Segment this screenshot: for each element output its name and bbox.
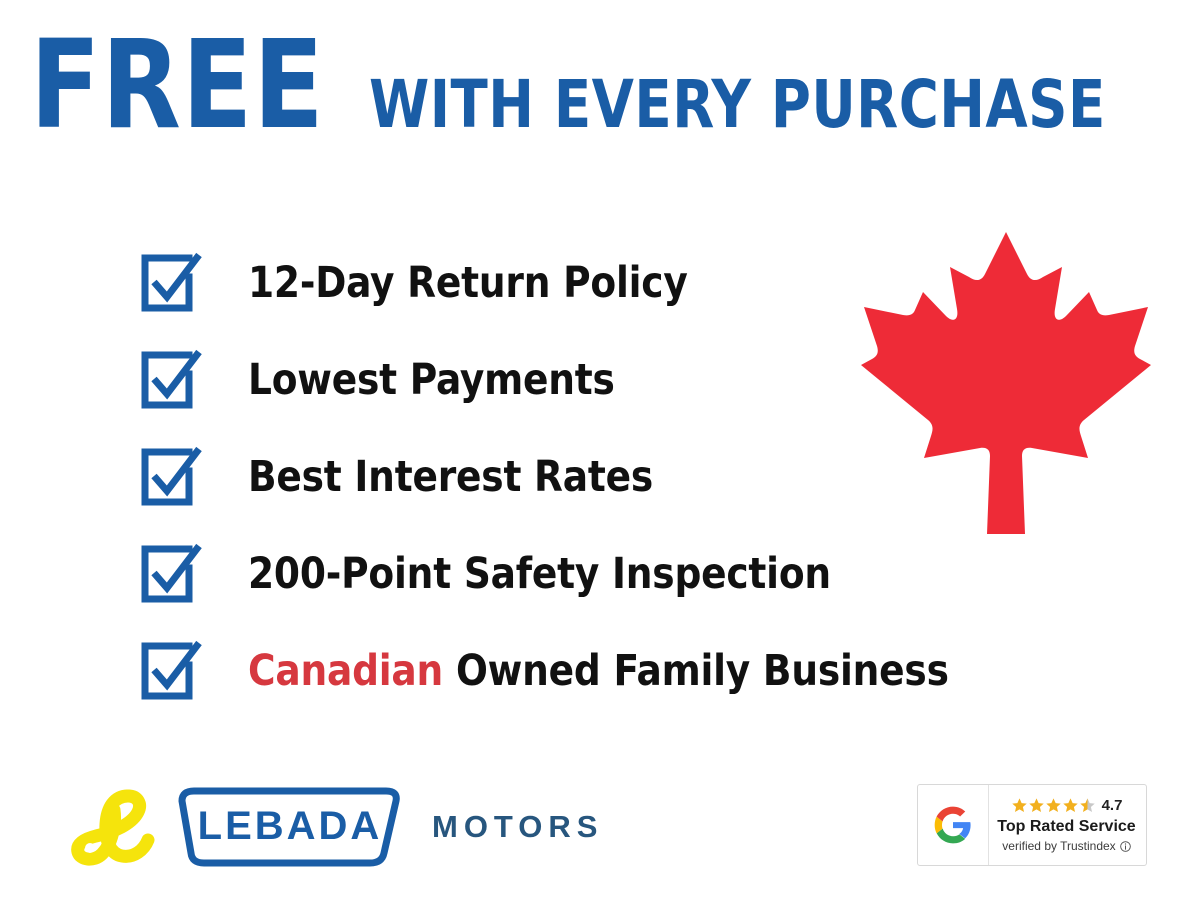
- benefit-label: 12-Day Return Policy: [248, 262, 688, 305]
- lebada-wordmark: LEBADA: [170, 787, 410, 867]
- headline-primary: FREE: [30, 24, 325, 146]
- star-icon: [1062, 797, 1079, 814]
- checked-checkbox-icon: [136, 344, 208, 416]
- google-review-badge[interactable]: 4.7 Top Rated Service verified by Trusti…: [917, 784, 1147, 866]
- star-icon: [1011, 797, 1028, 814]
- checked-checkbox-icon: [136, 441, 208, 513]
- review-body: 4.7 Top Rated Service verified by Trusti…: [989, 785, 1146, 865]
- review-logo-cell: [918, 785, 989, 865]
- benefit-label: 200-Point Safety Inspection: [248, 553, 831, 596]
- checked-checkbox-icon: [136, 538, 208, 610]
- star-half-icon: [1079, 797, 1096, 814]
- benefit-item: Best Interest Rates: [136, 440, 896, 514]
- lebada-script-l-icon: [66, 784, 170, 870]
- headline-secondary: WITH EVERY PURCHASE: [369, 72, 1106, 138]
- benefit-text: 200-Point Safety Inspection: [248, 549, 831, 599]
- review-title: Top Rated Service: [997, 818, 1135, 836]
- review-verified-row: verified by Trustindex: [1002, 839, 1130, 853]
- benefit-label: Lowest Payments: [248, 359, 615, 402]
- promo-poster: FREE WITH EVERY PURCHASE 12-Day Return P…: [0, 0, 1200, 900]
- benefit-item: Canadian Owned Family Business: [136, 634, 896, 708]
- checked-checkbox-icon: [136, 247, 208, 319]
- star-rating: [1011, 797, 1096, 814]
- benefit-accent-text: Canadian: [248, 646, 443, 696]
- motors-wordmark: MOTORS: [432, 809, 604, 845]
- headline: FREE WITH EVERY PURCHASE: [0, 24, 1200, 154]
- checked-checkbox-icon: [136, 635, 208, 707]
- star-icon: [1028, 797, 1045, 814]
- benefit-label: Canadian Owned Family Business: [248, 650, 949, 693]
- maple-leaf-icon: [856, 222, 1156, 542]
- benefit-text: Best Interest Rates: [248, 452, 653, 502]
- benefits-list: 12-Day Return Policy Lowest Payments Bes…: [136, 246, 896, 708]
- google-g-icon: [933, 805, 973, 845]
- review-verified-text: verified by Trustindex: [1002, 839, 1115, 853]
- benefit-item: 12-Day Return Policy: [136, 246, 896, 320]
- benefit-item: Lowest Payments: [136, 343, 896, 417]
- benefit-text: 12-Day Return Policy: [248, 258, 688, 308]
- star-icon: [1045, 797, 1062, 814]
- review-rating-row: 4.7: [1011, 797, 1123, 814]
- benefit-item: 200-Point Safety Inspection: [136, 537, 896, 611]
- lebada-badge: LEBADA: [170, 787, 410, 867]
- benefit-label: Best Interest Rates: [248, 456, 653, 499]
- info-circle-icon[interactable]: [1120, 841, 1131, 852]
- review-score: 4.7: [1102, 798, 1123, 813]
- benefit-text: Owned Family Business: [443, 646, 949, 696]
- benefit-text: Lowest Payments: [248, 355, 615, 405]
- lebada-motors-logo: LEBADA MOTORS: [66, 782, 604, 872]
